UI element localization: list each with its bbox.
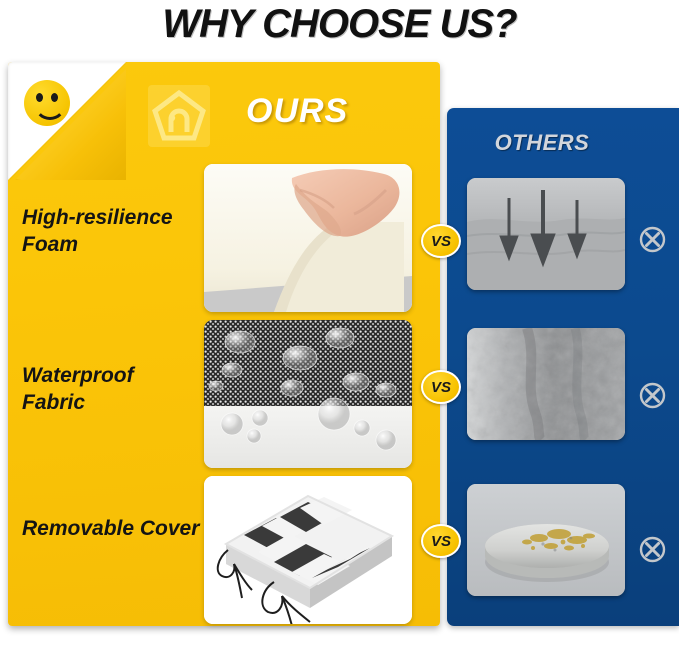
house-pentagon-logo-icon [148, 85, 210, 147]
others-heading: OTHERS [447, 130, 637, 156]
feature-label-1: High-resilience Foam [22, 204, 202, 258]
others-image-2 [467, 328, 625, 440]
ours-image-2 [204, 320, 412, 468]
others-image-3 [467, 484, 625, 596]
others-image-1 [467, 178, 625, 290]
smiley-mouth [34, 98, 66, 120]
reject-icon-2 [639, 382, 666, 409]
feature-label-3: Removable Cover [22, 515, 202, 542]
vs-badge-1: VS [421, 224, 461, 258]
ours-heading: OURS [246, 92, 348, 131]
ours-image-1 [204, 164, 412, 312]
feature-label-2: Waterproof Fabric [22, 362, 202, 416]
ours-image-3 [204, 476, 412, 624]
reject-icon-1 [639, 226, 666, 253]
vs-badge-2: VS [421, 370, 461, 404]
smiley-face-icon [24, 80, 70, 126]
page-title: WHY CHOOSE US? [0, 0, 679, 48]
reject-icon-3 [639, 536, 666, 563]
vs-badge-3: VS [421, 524, 461, 558]
